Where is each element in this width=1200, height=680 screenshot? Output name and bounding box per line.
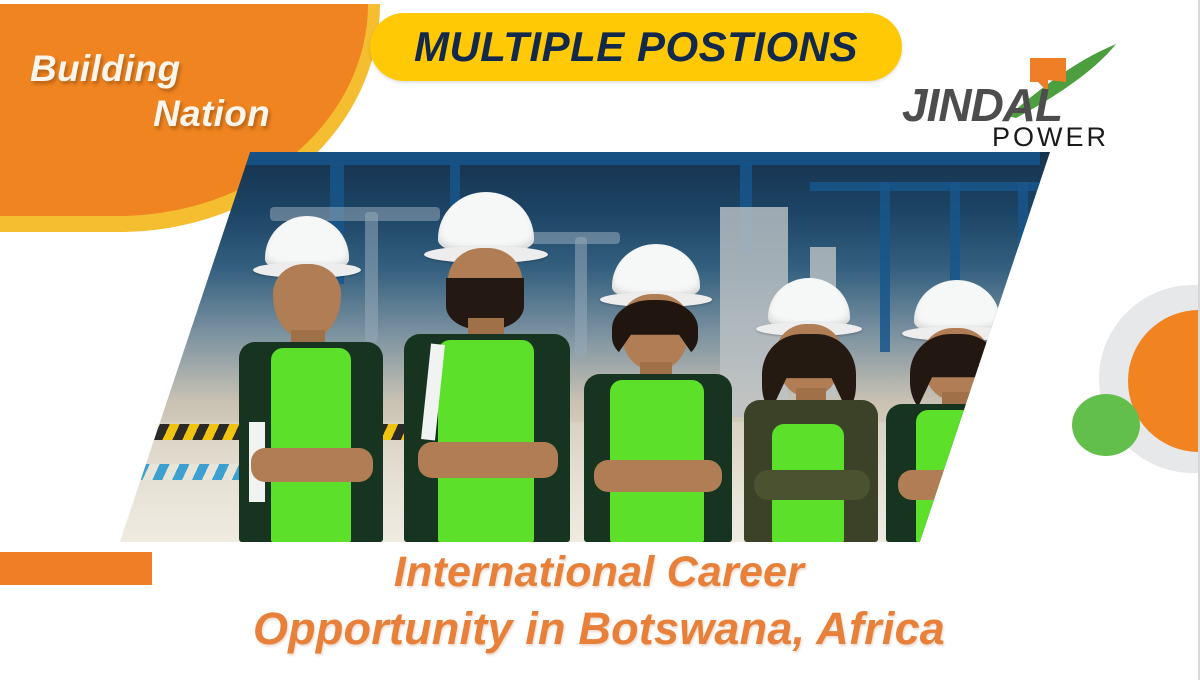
multiple-positions-badge: MULTIPLE POSTIONS xyxy=(370,13,902,81)
photo-beam xyxy=(810,182,1050,191)
worker-arm xyxy=(418,442,558,478)
worker-arm xyxy=(754,470,870,500)
worker-arm xyxy=(898,470,1018,500)
tagline-line-2: Nation xyxy=(30,91,280,136)
worker-head xyxy=(273,264,341,338)
worker-arm xyxy=(251,448,373,482)
headline: International Career Opportunity in Bots… xyxy=(0,545,1198,658)
headline-line-2: Opportunity in Botswana, Africa xyxy=(0,600,1198,658)
worker-vest xyxy=(271,348,351,542)
photo-beam xyxy=(160,152,1040,165)
worker-arm xyxy=(594,460,722,492)
recruitment-poster: Building Nation MULTIPLE POSTIONS JINDAL… xyxy=(0,0,1200,680)
worker-figure xyxy=(215,212,405,542)
photo-beam xyxy=(1018,182,1028,362)
logo-sub-text: POWER xyxy=(992,124,1109,151)
tagline: Building Nation xyxy=(30,46,280,136)
worker-figure xyxy=(860,280,1050,542)
jindal-power-logo: JINDAL POWER xyxy=(898,38,1148,143)
hero-photo xyxy=(120,152,1050,542)
decorative-green-circle xyxy=(1072,394,1140,456)
worker-vest xyxy=(438,340,534,542)
badge-label: MULTIPLE POSTIONS xyxy=(414,23,858,71)
tagline-line-1: Building xyxy=(30,46,280,91)
hard-hat-icon xyxy=(438,192,534,254)
headline-line-1: International Career xyxy=(0,545,1198,600)
